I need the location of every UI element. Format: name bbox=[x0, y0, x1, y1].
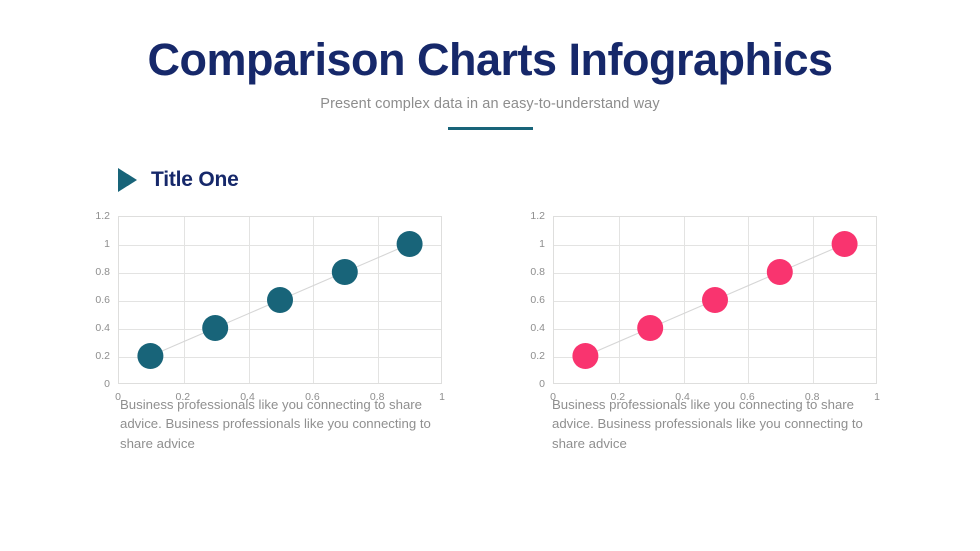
y-axis-tick-label: 1 bbox=[104, 238, 110, 250]
y-axis-tick-label: 0.6 bbox=[95, 294, 110, 306]
data-point-marker bbox=[332, 259, 358, 285]
page-title: Comparison Charts Infographics bbox=[0, 36, 980, 85]
data-point-marker bbox=[572, 343, 598, 369]
panel-title-one: Title One 00.20.40.60.811.200.20.40.60.8… bbox=[0, 163, 490, 411]
data-point-marker bbox=[267, 287, 293, 313]
data-point-marker bbox=[832, 231, 858, 257]
data-point-marker bbox=[397, 231, 423, 257]
chart-one: 00.20.40.60.811.200.20.40.60.81 bbox=[118, 216, 442, 384]
y-axis-tick-label: 0.8 bbox=[530, 266, 545, 278]
panel-header-two: Title Two bbox=[490, 163, 980, 197]
y-axis-tick-label: 0.2 bbox=[530, 350, 545, 362]
y-axis-tick-label: 0.4 bbox=[530, 322, 545, 334]
panel-title-label-one: Title One bbox=[151, 168, 239, 192]
y-axis-tick-label: 0.8 bbox=[95, 266, 110, 278]
chart-series-layer bbox=[553, 216, 877, 384]
y-axis-tick-label: 1 bbox=[539, 238, 545, 250]
y-axis-tick-label: 0.4 bbox=[95, 322, 110, 334]
title-divider-wrap bbox=[0, 127, 980, 130]
slide-canvas: Comparison Charts Infographics Present c… bbox=[0, 0, 980, 551]
panel-body-one: Business professionals like you connecti… bbox=[120, 395, 440, 453]
data-point-marker bbox=[702, 287, 728, 313]
chart-block-two: 00.20.40.60.811.200.20.40.60.81 bbox=[490, 216, 980, 411]
panel-title-two: Title Two 00.20.40.60.811.200.20.40.60.8… bbox=[490, 163, 980, 411]
title-divider bbox=[448, 127, 533, 130]
page-subtitle: Present complex data in an easy-to-under… bbox=[0, 96, 980, 112]
panel-body-two: Business professionals like you connecti… bbox=[552, 395, 872, 453]
chart-two: 00.20.40.60.811.200.20.40.60.81 bbox=[553, 216, 877, 384]
y-axis-tick-label: 0.2 bbox=[95, 350, 110, 362]
play-triangle-icon bbox=[118, 168, 137, 192]
y-axis-tick-label: 0 bbox=[104, 378, 110, 390]
y-axis-tick-label: 0.6 bbox=[530, 294, 545, 306]
data-point-marker bbox=[637, 315, 663, 341]
data-point-marker bbox=[137, 343, 163, 369]
panel-header-one: Title One bbox=[0, 163, 490, 197]
chart-series-layer bbox=[118, 216, 442, 384]
y-axis-tick-label: 1.2 bbox=[530, 210, 545, 222]
data-point-marker bbox=[202, 315, 228, 341]
chart-block-one: 00.20.40.60.811.200.20.40.60.81 bbox=[0, 216, 490, 411]
data-point-marker bbox=[767, 259, 793, 285]
comparison-panels: Title One 00.20.40.60.811.200.20.40.60.8… bbox=[0, 163, 980, 411]
slide-header: Comparison Charts Infographics Present c… bbox=[0, 36, 980, 130]
x-axis-tick-label: 1 bbox=[874, 391, 880, 403]
y-axis-tick-label: 0 bbox=[539, 378, 545, 390]
y-axis-tick-label: 1.2 bbox=[95, 210, 110, 222]
